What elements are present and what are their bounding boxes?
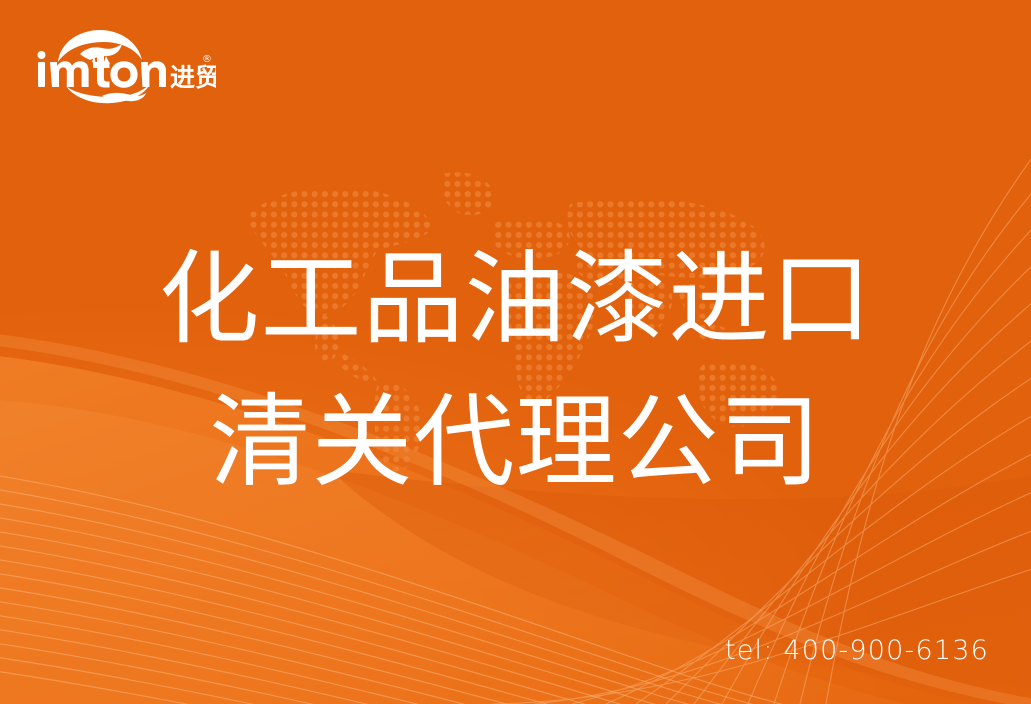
promo-banner: 进贸通 ® 化工品油漆进口 清关代理公司 tel: 400-900-6136 [0, 0, 1031, 704]
headline: 化工品油漆进口 清关代理公司 [0, 228, 1031, 514]
headline-line-2: 清关代理公司 [0, 371, 1031, 514]
logo-wordmark-imton [38, 51, 167, 88]
logo-chinese-name: 进贸通 [170, 63, 216, 92]
headline-line-1: 化工品油漆进口 [0, 228, 1031, 371]
registered-trademark-icon: ® [202, 54, 212, 65]
contact-phone[interactable]: tel: 400-900-6136 [725, 635, 989, 666]
imton-logo[interactable]: 进贸通 ® [36, 26, 216, 104]
